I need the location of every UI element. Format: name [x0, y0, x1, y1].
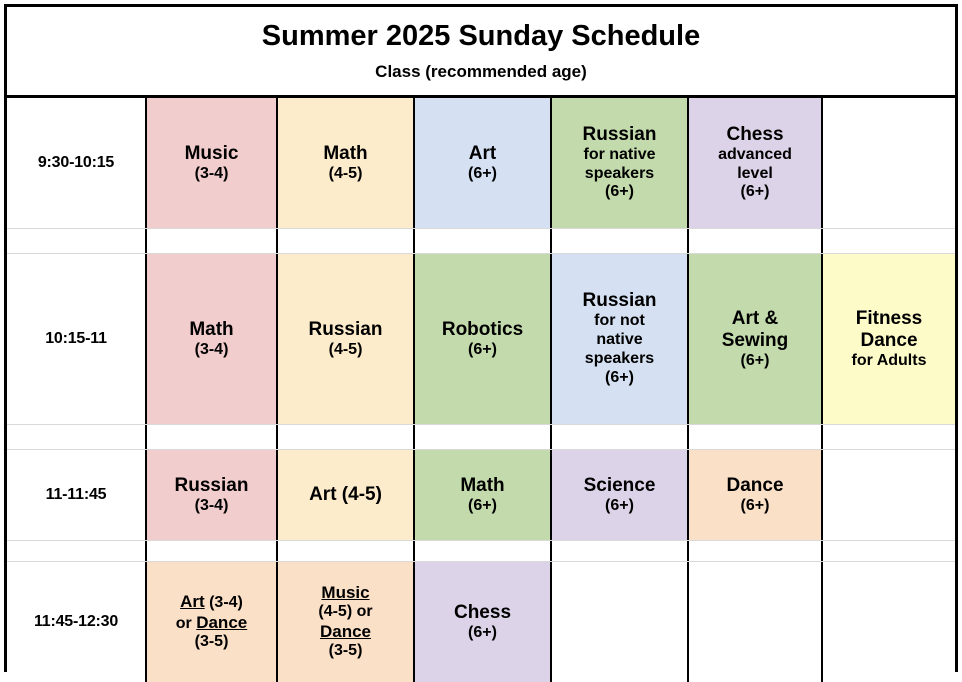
- class-detail: speakers: [585, 165, 654, 184]
- class-name: Robotics: [442, 319, 523, 341]
- class-age: (6+): [468, 341, 497, 360]
- class-age: (6+): [741, 352, 770, 371]
- class-detail: speakers: [585, 350, 654, 369]
- class-cell[interactable]: Art(6+): [415, 98, 552, 228]
- class-detail: native: [596, 331, 642, 350]
- time-slot-label: 11:45-12:30: [7, 562, 147, 682]
- spacer-cell: [278, 229, 415, 253]
- spacer-cell: [689, 229, 823, 253]
- class-name: Art: [469, 143, 496, 165]
- class-name: Math: [460, 475, 504, 497]
- class-age: (3-5): [329, 642, 363, 661]
- class-cell-empty: [823, 98, 955, 228]
- class-cell[interactable]: Russian(3-4): [147, 450, 278, 540]
- spacer-row: [7, 424, 955, 450]
- class-age: (6+): [741, 497, 770, 516]
- class-age: (3-4): [195, 497, 229, 516]
- spacer-cell: [278, 425, 415, 449]
- class-cell[interactable]: Music(3-4): [147, 98, 278, 228]
- class-name: Fitness: [856, 308, 923, 330]
- class-detail: for Adults: [852, 352, 927, 371]
- class-age: (6+): [741, 183, 770, 202]
- class-link[interactable]: Music: [321, 583, 369, 602]
- spacer-cell: [415, 541, 552, 561]
- class-link[interactable]: Art: [180, 592, 205, 611]
- class-name-and-age: Art (4-5): [309, 484, 382, 507]
- class-cell[interactable]: Music(4-5) orDance(3-5): [278, 562, 415, 682]
- page-subtitle: Class (recommended age): [375, 62, 587, 82]
- class-cell-empty: [823, 562, 955, 682]
- class-cell[interactable]: Art (4-5): [278, 450, 415, 540]
- class-age: (6+): [468, 165, 497, 184]
- spacer-cell: [415, 229, 552, 253]
- time-slot-label: 10:15-11: [7, 254, 147, 424]
- class-age: (6+): [605, 497, 634, 516]
- class-age: (3-5): [195, 633, 229, 652]
- class-age: (4-5): [329, 341, 363, 360]
- table-row: 10:15-11Math(3-4)Russian(4-5)Robotics(6+…: [7, 254, 955, 424]
- class-detail: advanced: [718, 146, 792, 165]
- choice-conjunction: or: [176, 615, 196, 632]
- spacer-cell: [147, 229, 278, 253]
- class-cell[interactable]: Chess(6+): [415, 562, 552, 682]
- spacer-cell: [415, 425, 552, 449]
- class-name: Chess: [454, 602, 511, 624]
- class-choice-line: Art (3-4): [180, 592, 243, 612]
- class-name: Russian: [583, 290, 657, 312]
- class-age: (3-4): [195, 165, 229, 184]
- class-cell[interactable]: Russianfor notnativespeakers(6+): [552, 254, 689, 424]
- schedule-grid: 9:30-10:15Music(3-4)Math(4-5)Art(6+)Russ…: [7, 98, 955, 668]
- class-name: Russian: [583, 124, 657, 146]
- class-age: (6+): [468, 497, 497, 516]
- class-detail: for not: [594, 312, 645, 331]
- class-choice-line: Music: [321, 583, 369, 603]
- class-cell-empty: [689, 562, 823, 682]
- spacer-row: [7, 540, 955, 562]
- class-name: Chess: [726, 124, 783, 146]
- class-cell-empty: [823, 450, 955, 540]
- spacer-cell: [552, 229, 689, 253]
- page-title: Summer 2025 Sunday Schedule: [262, 20, 700, 52]
- class-name-line2: Sewing: [722, 330, 789, 352]
- class-age: (4-5): [329, 165, 363, 184]
- time-slot-label: 11-11:45: [7, 450, 147, 540]
- class-name: Science: [584, 475, 656, 497]
- class-cell[interactable]: Chessadvancedlevel(6+): [689, 98, 823, 228]
- title-block: Summer 2025 Sunday Schedule Class (recom…: [7, 7, 955, 98]
- class-name: Russian: [309, 319, 383, 341]
- spacer-cell: [278, 541, 415, 561]
- spacer-cell: [823, 229, 955, 253]
- spacer-time-cell: [7, 229, 147, 253]
- spacer-cell: [689, 425, 823, 449]
- class-name: Math: [189, 319, 233, 341]
- class-cell[interactable]: Math(6+): [415, 450, 552, 540]
- class-detail: for native: [583, 146, 655, 165]
- class-cell[interactable]: Dance(6+): [689, 450, 823, 540]
- class-age: (3-4): [195, 341, 229, 360]
- spacer-cell: [552, 425, 689, 449]
- class-name-line2: Dance: [860, 330, 917, 352]
- class-name: Math: [323, 143, 367, 165]
- spacer-cell: [823, 425, 955, 449]
- spacer-cell: [552, 541, 689, 561]
- spacer-cell: [147, 541, 278, 561]
- class-cell[interactable]: FitnessDancefor Adults: [823, 254, 955, 424]
- class-cell[interactable]: Art (3-4)or Dance(3-5): [147, 562, 278, 682]
- class-age: (6+): [605, 369, 634, 388]
- class-name: Music: [185, 143, 239, 165]
- spacer-cell: [147, 425, 278, 449]
- time-slot-label: 9:30-10:15: [7, 98, 147, 228]
- class-cell[interactable]: Math(4-5): [278, 98, 415, 228]
- class-cell[interactable]: Art &Sewing(6+): [689, 254, 823, 424]
- spacer-row: [7, 228, 955, 254]
- class-age: (4-5) or: [318, 603, 372, 622]
- class-cell[interactable]: Russian(4-5): [278, 254, 415, 424]
- class-age: (3-4): [205, 594, 243, 611]
- class-cell[interactable]: Math(3-4): [147, 254, 278, 424]
- spacer-time-cell: [7, 541, 147, 561]
- table-row: 11:45-12:30Art (3-4)or Dance(3-5)Music(4…: [7, 562, 955, 682]
- spacer-cell: [823, 541, 955, 561]
- class-cell-empty: [552, 562, 689, 682]
- spacer-cell: [689, 541, 823, 561]
- spacer-time-cell: [7, 425, 147, 449]
- class-choice-line: or Dance: [176, 613, 247, 633]
- class-name: Russian: [175, 475, 249, 497]
- table-row: 11-11:45Russian(3-4)Art (4-5)Math(6+)Sci…: [7, 450, 955, 540]
- class-cell[interactable]: Robotics(6+): [415, 254, 552, 424]
- class-name: Dance: [726, 475, 783, 497]
- class-cell[interactable]: Science(6+): [552, 450, 689, 540]
- class-name: Art &: [732, 308, 778, 330]
- class-cell[interactable]: Russianfor nativespeakers(6+): [552, 98, 689, 228]
- class-choice-line: Dance: [320, 622, 371, 642]
- class-age: (6+): [468, 624, 497, 643]
- class-age: (6+): [605, 183, 634, 202]
- class-link[interactable]: Dance: [320, 622, 371, 641]
- class-link[interactable]: Dance: [196, 613, 247, 632]
- class-detail: level: [737, 165, 773, 184]
- table-row: 9:30-10:15Music(3-4)Math(4-5)Art(6+)Russ…: [7, 98, 955, 228]
- schedule-sheet: Summer 2025 Sunday Schedule Class (recom…: [0, 0, 962, 675]
